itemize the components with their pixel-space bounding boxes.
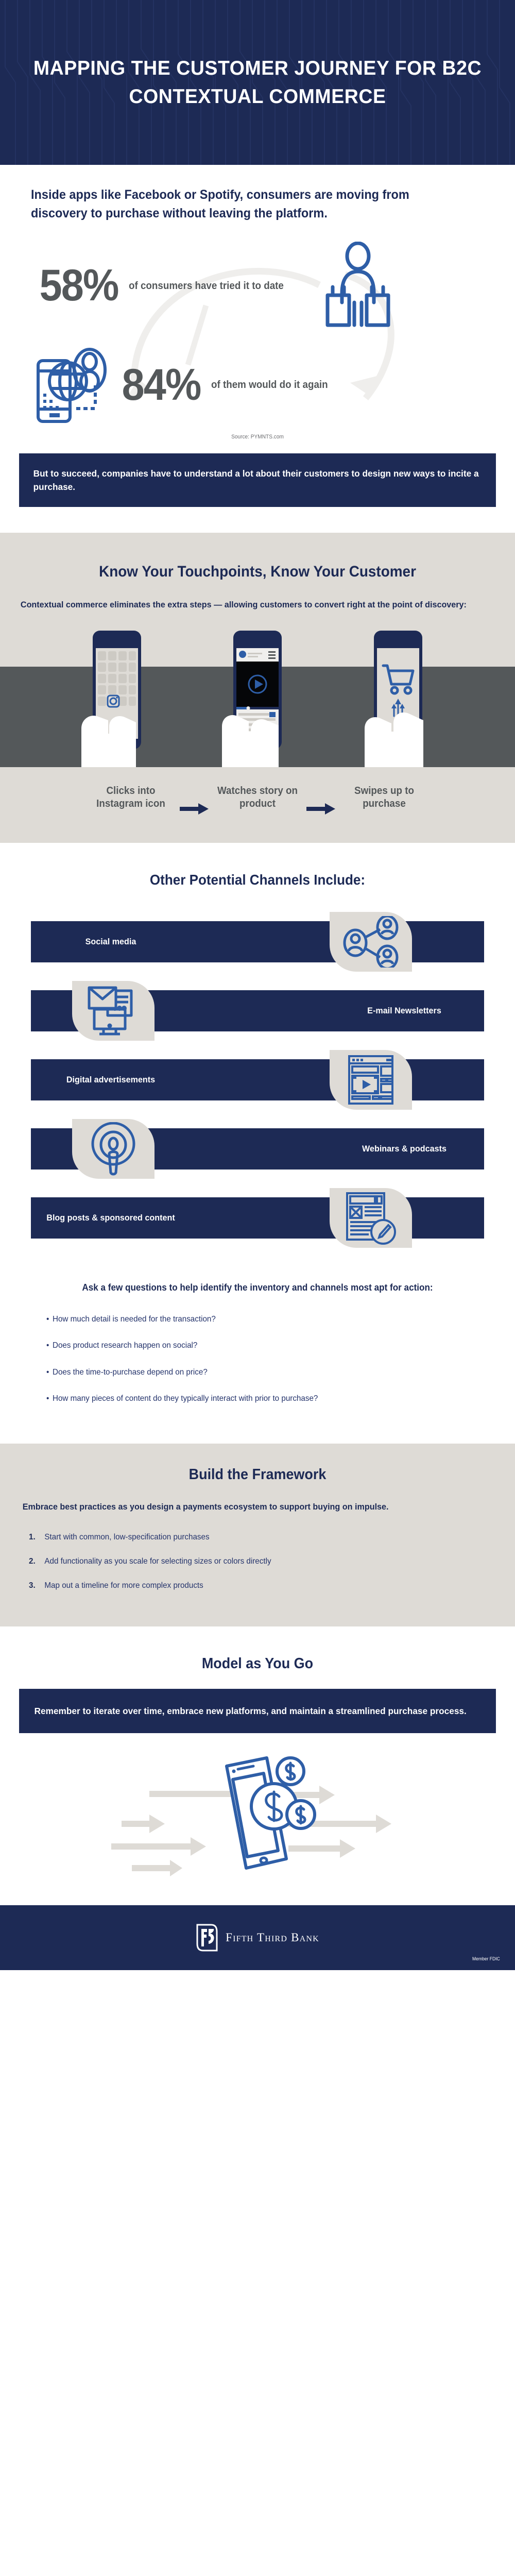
framework-item: 3. Map out a timeline for more complex p… [29, 1580, 463, 1591]
channel-label: Social media [35, 921, 187, 962]
question-text: Does the time-to-purchase depend on pric… [53, 1366, 208, 1378]
framework-section: Build the Framework Embrace best practic… [0, 1444, 515, 1626]
people-network-icon [330, 912, 412, 972]
stat-row-84: 84% of them would do it again [31, 344, 484, 427]
header-banner: MAPPING THE CUSTOMER JOURNEY FOR B2C CON… [0, 0, 515, 165]
spacer [0, 507, 515, 533]
fdic-notice: Member FDIC [472, 1956, 500, 1962]
intro-section: Inside apps like Facebook or Spotify, co… [0, 165, 515, 223]
envelope-monitor-icon [72, 981, 154, 1041]
question-text: How many pieces of content do they typic… [53, 1393, 318, 1404]
touchpoints-section: Know Your Touchpoints, Know Your Custome… [0, 533, 515, 843]
question-item: • Does the time-to-purchase depend on pr… [46, 1366, 448, 1378]
channel-row: Digital advertisements [0, 1050, 515, 1110]
framework-title: Build the Framework [18, 1444, 497, 1483]
question-item: • How much detail is needed for the tran… [46, 1313, 448, 1325]
phone-video-player-icon [219, 625, 296, 767]
stat-label-84: of them would do it again [211, 379, 328, 391]
question-text: Does product research happen on social? [53, 1340, 197, 1351]
framework-list: 1. Start with common, low-specification … [0, 1514, 515, 1627]
page-title: MAPPING THE CUSTOMER JOURNEY FOR B2C CON… [10, 54, 505, 111]
question-text: How much detail is needed for the transa… [53, 1313, 216, 1325]
framework-item: 1. Start with common, low-specification … [29, 1531, 463, 1543]
framework-item: 2. Add functionality as you scale for se… [29, 1555, 463, 1567]
step-arrow-icon-2 [306, 785, 335, 818]
model-callout: Remember to iterate over time, embrace n… [19, 1689, 496, 1733]
stat-value-58: 58% [40, 265, 118, 306]
step-label-3: Swipes up to purchase [343, 785, 425, 810]
framework-number: 1. [29, 1531, 39, 1543]
channel-row: E-mail Newsletters [0, 981, 515, 1041]
model-title: Model as You Go [18, 1626, 497, 1672]
channel-row: Webinars & podcasts [0, 1119, 515, 1179]
bullet-icon: • [46, 1366, 49, 1378]
shopper-with-bags-icon [324, 242, 391, 331]
stats-source: Source: PYMNTS.com [49, 434, 466, 440]
channel-label: Digital advertisements [35, 1059, 187, 1100]
channels-list: Social media [0, 888, 515, 1248]
article-pencil-icon [330, 1188, 412, 1248]
framework-number: 3. [29, 1580, 39, 1591]
phones-illustration [0, 625, 515, 767]
phone-with-dollar-coins-icon [0, 1733, 515, 1905]
questions-heading: Ask a few questions to help identify the… [13, 1257, 502, 1295]
question-item: • How many pieces of content do they typ… [46, 1393, 448, 1404]
fifth-third-logo-mark-icon [196, 1923, 218, 1952]
framework-text: Map out a timeline for more complex prod… [44, 1580, 203, 1591]
phone-cart-swipe-icon [359, 625, 437, 767]
bullet-icon: • [46, 1340, 49, 1351]
stat-row-58: 58% of consumers have tried it to date [31, 242, 484, 331]
step-label-2: Watches story on product [216, 785, 299, 810]
podcast-microphone-icon [72, 1119, 154, 1179]
framework-text: Add functionality as you scale for selec… [44, 1555, 271, 1567]
step-label-1: Clicks into Instagram icon [90, 785, 172, 810]
infographic-page: MAPPING THE CUSTOMER JOURNEY FOR B2C CON… [0, 0, 515, 1970]
steps-row: Clicks into Instagram icon Watches story… [0, 767, 515, 843]
stat-value-84: 84% [122, 365, 201, 405]
stats-section: 58% of consumers have tried it to date [0, 223, 515, 440]
framework-text: Start with common, low-specification pur… [44, 1531, 209, 1543]
channel-label: E-mail Newsletters [329, 990, 480, 1031]
brand-logo: Fifth Third Bank [196, 1923, 319, 1952]
brand-name: Fifth Third Bank [226, 1931, 319, 1944]
question-item: • Does product research happen on social… [46, 1340, 448, 1351]
phone-app-grid-icon [78, 625, 156, 767]
questions-list: • How much detail is needed for the tran… [0, 1295, 515, 1444]
stat-label-58: of consumers have tried it to date [129, 280, 284, 292]
channel-label: Blog posts & sponsored content [35, 1197, 187, 1239]
channels-title: Other Potential Channels Include: [18, 843, 497, 888]
channel-row: Social media [0, 912, 515, 972]
web-page-video-ad-icon [330, 1050, 412, 1110]
footer-bar: Fifth Third Bank Member FDIC [0, 1905, 515, 1970]
channel-label: Webinars & podcasts [329, 1128, 480, 1170]
framework-number: 2. [29, 1555, 39, 1567]
touchpoints-title: Know Your Touchpoints, Know Your Custome… [18, 533, 497, 583]
phone-globe-people-icon [36, 344, 113, 427]
intro-lead-text: Inside apps like Facebook or Spotify, co… [31, 185, 457, 223]
channel-row: Blog posts & sponsored content [0, 1188, 515, 1248]
framework-subtitle: Embrace best practices as you design a p… [0, 1483, 489, 1514]
bullet-icon: • [46, 1393, 49, 1404]
step-arrow-icon-1 [180, 785, 209, 818]
touchpoints-subtitle: Contextual commerce eliminates the extra… [0, 583, 489, 612]
bullet-icon: • [46, 1313, 49, 1325]
model-section: Model as You Go Remember to iterate over… [0, 1626, 515, 1905]
callout-banner: But to succeed, companies have to unders… [19, 453, 496, 507]
